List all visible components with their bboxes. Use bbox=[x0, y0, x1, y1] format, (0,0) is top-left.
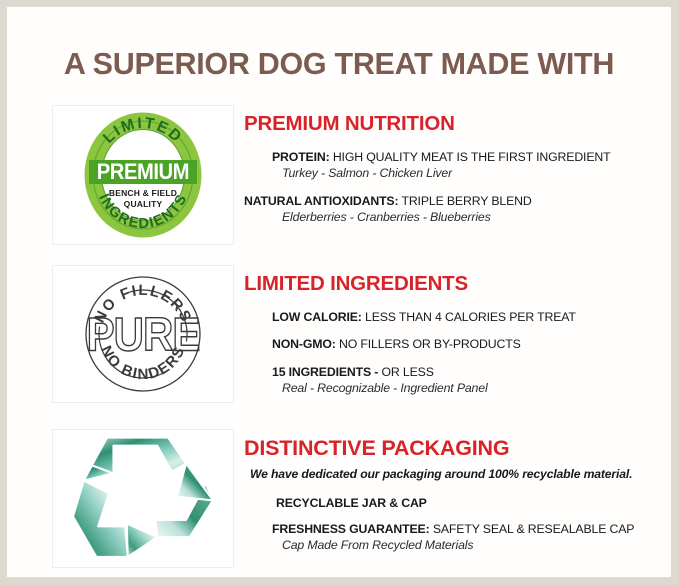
limited-ingredients-text: LIMITED INGREDIENTS LOW CALORIE: LESS TH… bbox=[234, 265, 661, 397]
poster-canvas: A SUPERIOR DOG TREAT MADE WITH LIMITED bbox=[7, 7, 671, 577]
list-item: PROTEIN: HIGH QUALITY MEAT IS THE FIRST … bbox=[244, 149, 661, 166]
line-text: TRIPLE BERRY BLEND bbox=[398, 194, 531, 208]
line-text: LESS THAN 4 CALORIES PER TREAT bbox=[362, 310, 576, 324]
line-label: 15 INGREDIENTS - bbox=[272, 365, 378, 379]
line-label: LOW CALORIE: bbox=[272, 310, 362, 324]
pure-center-text: PURE bbox=[87, 309, 200, 361]
limited-ingredients-lines: LOW CALORIE: LESS THAN 4 CALORIES PER TR… bbox=[244, 309, 661, 397]
pure-badge-box: NO FILLERS NO BINDERS PURE bbox=[52, 265, 234, 403]
badge-subline-1: BENCH & FIELD bbox=[109, 188, 177, 198]
pure-badge-graphic: NO FILLERS NO BINDERS PURE bbox=[82, 273, 204, 395]
section-distinctive-packaging: DISTINCTIVE PACKAGING We have dedicated … bbox=[52, 429, 661, 568]
list-item-sub: Turkey - Salmon - Chicken Liver bbox=[244, 165, 661, 182]
list-item: 15 INGREDIENTS - OR LESS bbox=[244, 364, 661, 381]
distinctive-packaging-text: DISTINCTIVE PACKAGING We have dedicated … bbox=[234, 429, 661, 554]
list-item-sub: Elderberries - Cranberries - Blueberries bbox=[244, 209, 661, 226]
list-item: NATURAL ANTIOXIDANTS: TRIPLE BERRY BLEND bbox=[244, 193, 661, 210]
list-item: FRESHNESS GUARANTEE: SAFETY SEAL & RESEA… bbox=[244, 521, 661, 538]
badge-subline-2: QUALITY bbox=[124, 199, 163, 209]
line-label: NON-GMO: bbox=[272, 337, 336, 351]
premium-limited-ingredients-badge: LIMITED INGREDIENTS PREMIUM BENCH & FIEL… bbox=[79, 112, 207, 238]
list-item: NON-GMO: NO FILLERS OR BY-PRODUCTS bbox=[244, 336, 661, 353]
line-text: OR LESS bbox=[378, 365, 434, 379]
list-item-sub: Real - Recognizable - Ingredient Panel bbox=[244, 380, 661, 397]
premium-badge-graphic: LIMITED INGREDIENTS PREMIUM BENCH & FIEL… bbox=[79, 112, 207, 238]
recycle-box bbox=[52, 429, 234, 568]
section-heading-premium-nutrition: PREMIUM NUTRITION bbox=[244, 113, 661, 136]
list-item: LOW CALORIE: LESS THAN 4 CALORIES PER TR… bbox=[244, 309, 661, 326]
premium-nutrition-text: PREMIUM NUTRITION PROTEIN: HIGH QUALITY … bbox=[234, 105, 661, 226]
section-heading-distinctive-packaging: DISTINCTIVE PACKAGING bbox=[244, 437, 661, 461]
page-title: A SUPERIOR DOG TREAT MADE WITH bbox=[7, 47, 671, 82]
line-label: NATURAL ANTIOXIDANTS: bbox=[244, 194, 398, 208]
recycle-symbol-icon bbox=[69, 434, 217, 564]
list-item-sub: Cap Made From Recycled Materials bbox=[244, 537, 661, 554]
badge-band-text: PREMIUM bbox=[97, 160, 189, 184]
line-text: HIGH QUALITY MEAT IS THE FIRST INGREDIEN… bbox=[330, 150, 611, 164]
section-limited-ingredients: NO FILLERS NO BINDERS PURE LIMITED INGRE… bbox=[52, 265, 661, 403]
premium-nutrition-lines: PROTEIN: HIGH QUALITY MEAT IS THE FIRST … bbox=[244, 149, 661, 226]
pure-no-fillers-no-binders-badge: NO FILLERS NO BINDERS PURE bbox=[82, 273, 204, 395]
poster-frame: A SUPERIOR DOG TREAT MADE WITH LIMITED bbox=[0, 0, 679, 585]
line-label: PROTEIN: bbox=[272, 150, 330, 164]
line-text: SAFETY SEAL & RESEALABLE CAP bbox=[430, 522, 635, 536]
premium-badge-box: LIMITED INGREDIENTS PREMIUM BENCH & FIEL… bbox=[52, 105, 234, 245]
packaging-tagline: We have dedicated our packaging around 1… bbox=[244, 466, 661, 482]
list-item: RECYCLABLE JAR & CAP bbox=[244, 495, 661, 512]
section-premium-nutrition: LIMITED INGREDIENTS PREMIUM BENCH & FIEL… bbox=[52, 105, 661, 245]
line-label: FRESHNESS GUARANTEE: bbox=[272, 522, 430, 536]
distinctive-packaging-lines: RECYCLABLE JAR & CAP FRESHNESS GUARANTEE… bbox=[244, 495, 661, 554]
line-text: NO FILLERS OR BY-PRODUCTS bbox=[336, 337, 521, 351]
line-label: RECYCLABLE JAR & CAP bbox=[276, 496, 427, 510]
section-heading-limited-ingredients: LIMITED INGREDIENTS bbox=[244, 273, 661, 296]
